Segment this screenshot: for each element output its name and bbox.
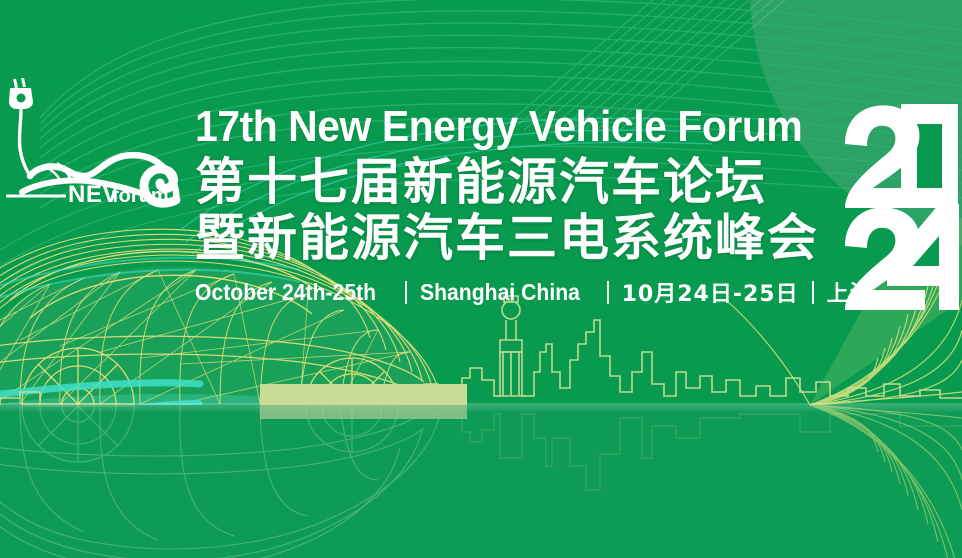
event-poster: NEV forum 17th New Energy Vehicle Forum …: [0, 0, 962, 558]
accent-bar: [260, 384, 467, 405]
meta-separator-3: [812, 281, 814, 304]
nevforum-logo[interactable]: NEV forum: [0, 72, 186, 218]
plug-port-icon: [17, 94, 26, 103]
city-english: Shanghai China: [420, 279, 580, 306]
title-english: 17th New Energy Vehicle Forum: [195, 104, 800, 150]
radiating-lines-reflection: [810, 405, 962, 558]
date-chinese: 10月24日-25日: [622, 276, 799, 308]
title-chinese-line-1: 第十七届新能源汽车论坛: [195, 154, 845, 210]
reflection-sheen: [0, 403, 962, 413]
title-chinese-line-2: 暨新能源汽车三电系统峰会: [195, 210, 845, 266]
headline-block: 17th New Energy Vehicle Forum 第十七届新能源汽车论…: [195, 104, 845, 308]
meta-separator-2: [607, 281, 609, 304]
logo-brand-light: forum: [112, 185, 169, 207]
date-english: October 24th-25th: [195, 279, 376, 306]
year-2024: [843, 100, 962, 312]
event-meta-strip: October 24th-25th Shanghai China 10月24日-…: [195, 276, 845, 308]
plug-cable-icon: [19, 109, 30, 176]
charging-plug-icon: [9, 78, 33, 109]
meta-separator-1: [405, 281, 407, 304]
accent-bar-reflection: [260, 405, 467, 419]
